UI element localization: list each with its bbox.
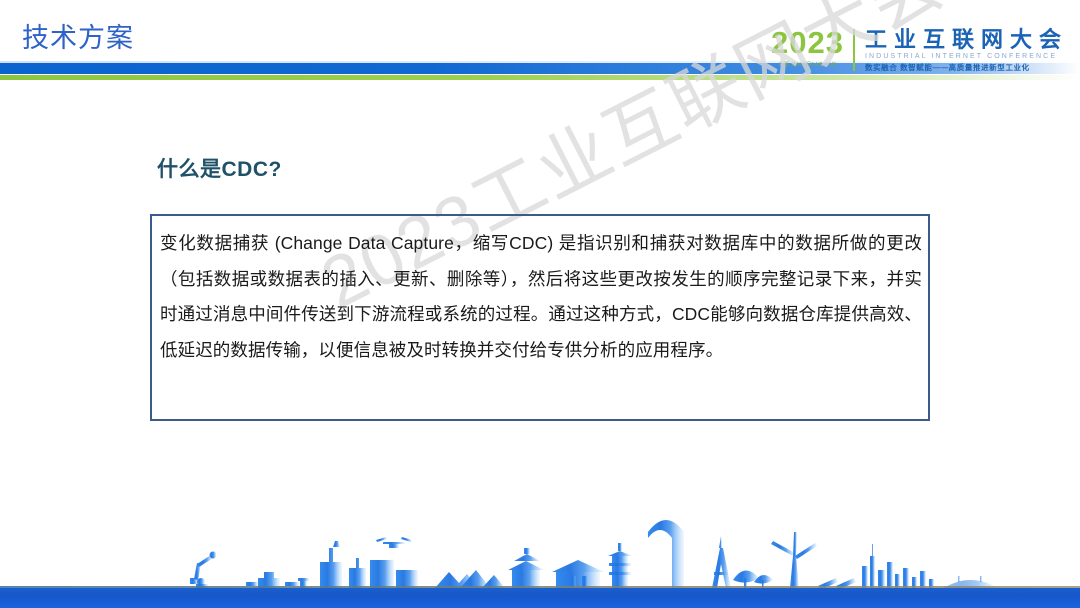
definition-text: 变化数据捕获 (Change Data Capture，缩写CDC) 是指识别和… [160, 226, 922, 368]
logo-name-block: 工业互联网大会 INDUSTRIAL INTERNET CONFERENCE 数… [855, 27, 1068, 73]
logo-name-cn: 工业互联网大会 [865, 27, 1068, 52]
skyline-decoration [0, 518, 1080, 608]
page-title: 技术方案 [22, 20, 134, 56]
sea-band [0, 588, 1080, 608]
section-heading: 什么是CDC? [157, 155, 282, 185]
logo-slogan: 数实融合 数智赋能——高质量推进新型工业化 [865, 62, 1068, 73]
logo-year-block: 2023 中国·苏州 8月14日-16日 [771, 27, 853, 69]
logo-name-en: INDUSTRIAL INTERNET CONFERENCE [865, 52, 1068, 62]
slide: 技术方案 2023 中国·苏州 8月14日-16日 工业互联网大会 INDUST… [0, 0, 1080, 608]
logo-year: 2023 [771, 27, 844, 59]
conference-logo: 2023 中国·苏州 8月14日-16日 工业互联网大会 INDUSTRIAL … [771, 27, 1068, 79]
logo-place-date: 中国·苏州 8月14日-16日 [778, 62, 836, 69]
